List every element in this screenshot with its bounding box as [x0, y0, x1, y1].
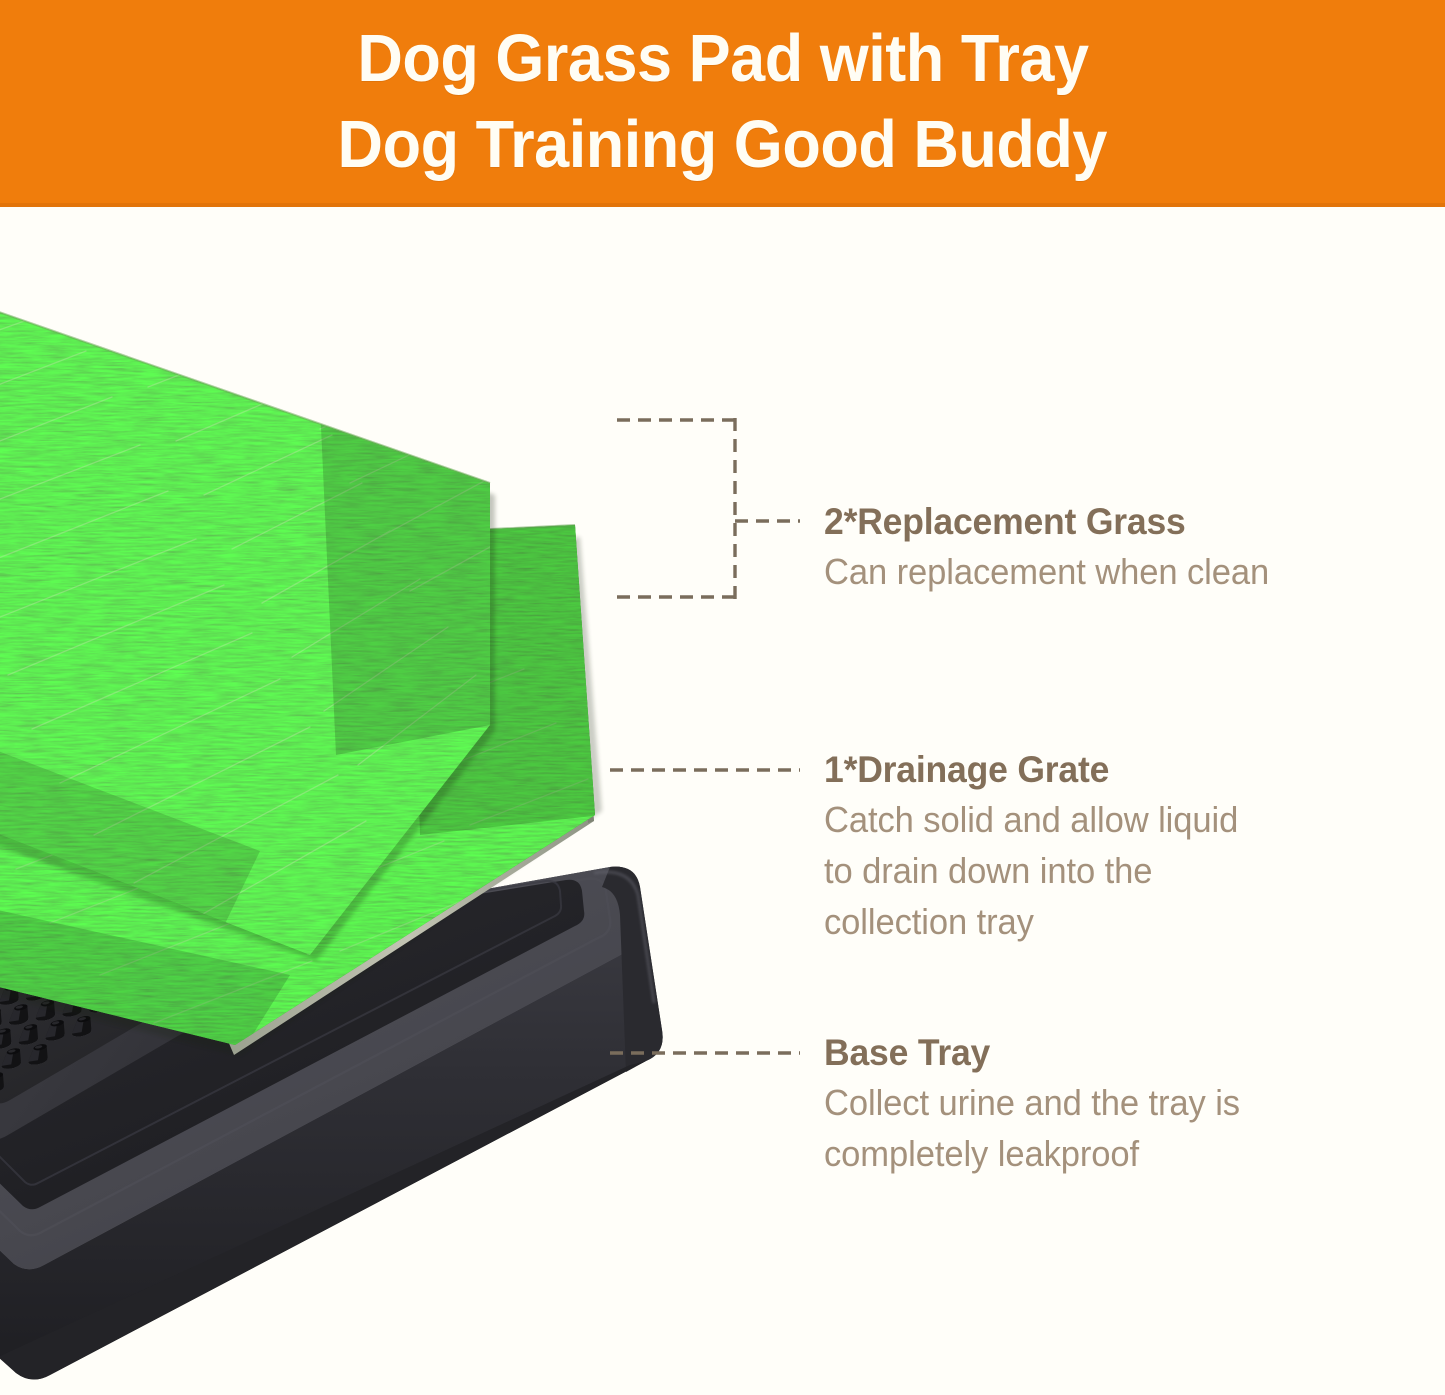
- infographic-page: Dog Grass Pad with Tray Dog Training Goo…: [0, 0, 1445, 1395]
- callout-body-base-tray-line-1: Collect urine and the tray is: [824, 1077, 1240, 1128]
- product-exploded-view-svg: [0, 255, 710, 1395]
- callout-title-replacement-grass: 2*Replacement Grass: [824, 498, 1269, 546]
- callout-body-drainage-grate-line-1: Catch solid and allow liquid: [824, 794, 1238, 845]
- callout-body-base-tray-line-2: completely leakproof: [824, 1128, 1240, 1179]
- product-illustration: [0, 255, 710, 1395]
- header-title-line-1: Dog Grass Pad with Tray: [357, 16, 1088, 102]
- header-title-line-2: Dog Training Good Buddy: [338, 102, 1107, 188]
- callout-body-replacement-grass-line-1: Can replacement when clean: [824, 546, 1269, 597]
- callout-body-drainage-grate-line-3: collection tray: [824, 896, 1238, 947]
- header-banner: Dog Grass Pad with Tray Dog Training Goo…: [0, 0, 1445, 207]
- callout-title-drainage-grate: 1*Drainage Grate: [824, 746, 1238, 794]
- callout-drainage-grate: 1*Drainage Grate Catch solid and allow l…: [824, 746, 1255, 947]
- callout-base-tray: Base Tray Collect urine and the tray is …: [824, 1029, 1257, 1179]
- callout-body-drainage-grate-line-2: to drain down into the: [824, 845, 1238, 896]
- callout-replacement-grass: 2*Replacement Grass Can replacement when…: [824, 498, 1288, 597]
- callout-title-base-tray: Base Tray: [824, 1029, 1240, 1077]
